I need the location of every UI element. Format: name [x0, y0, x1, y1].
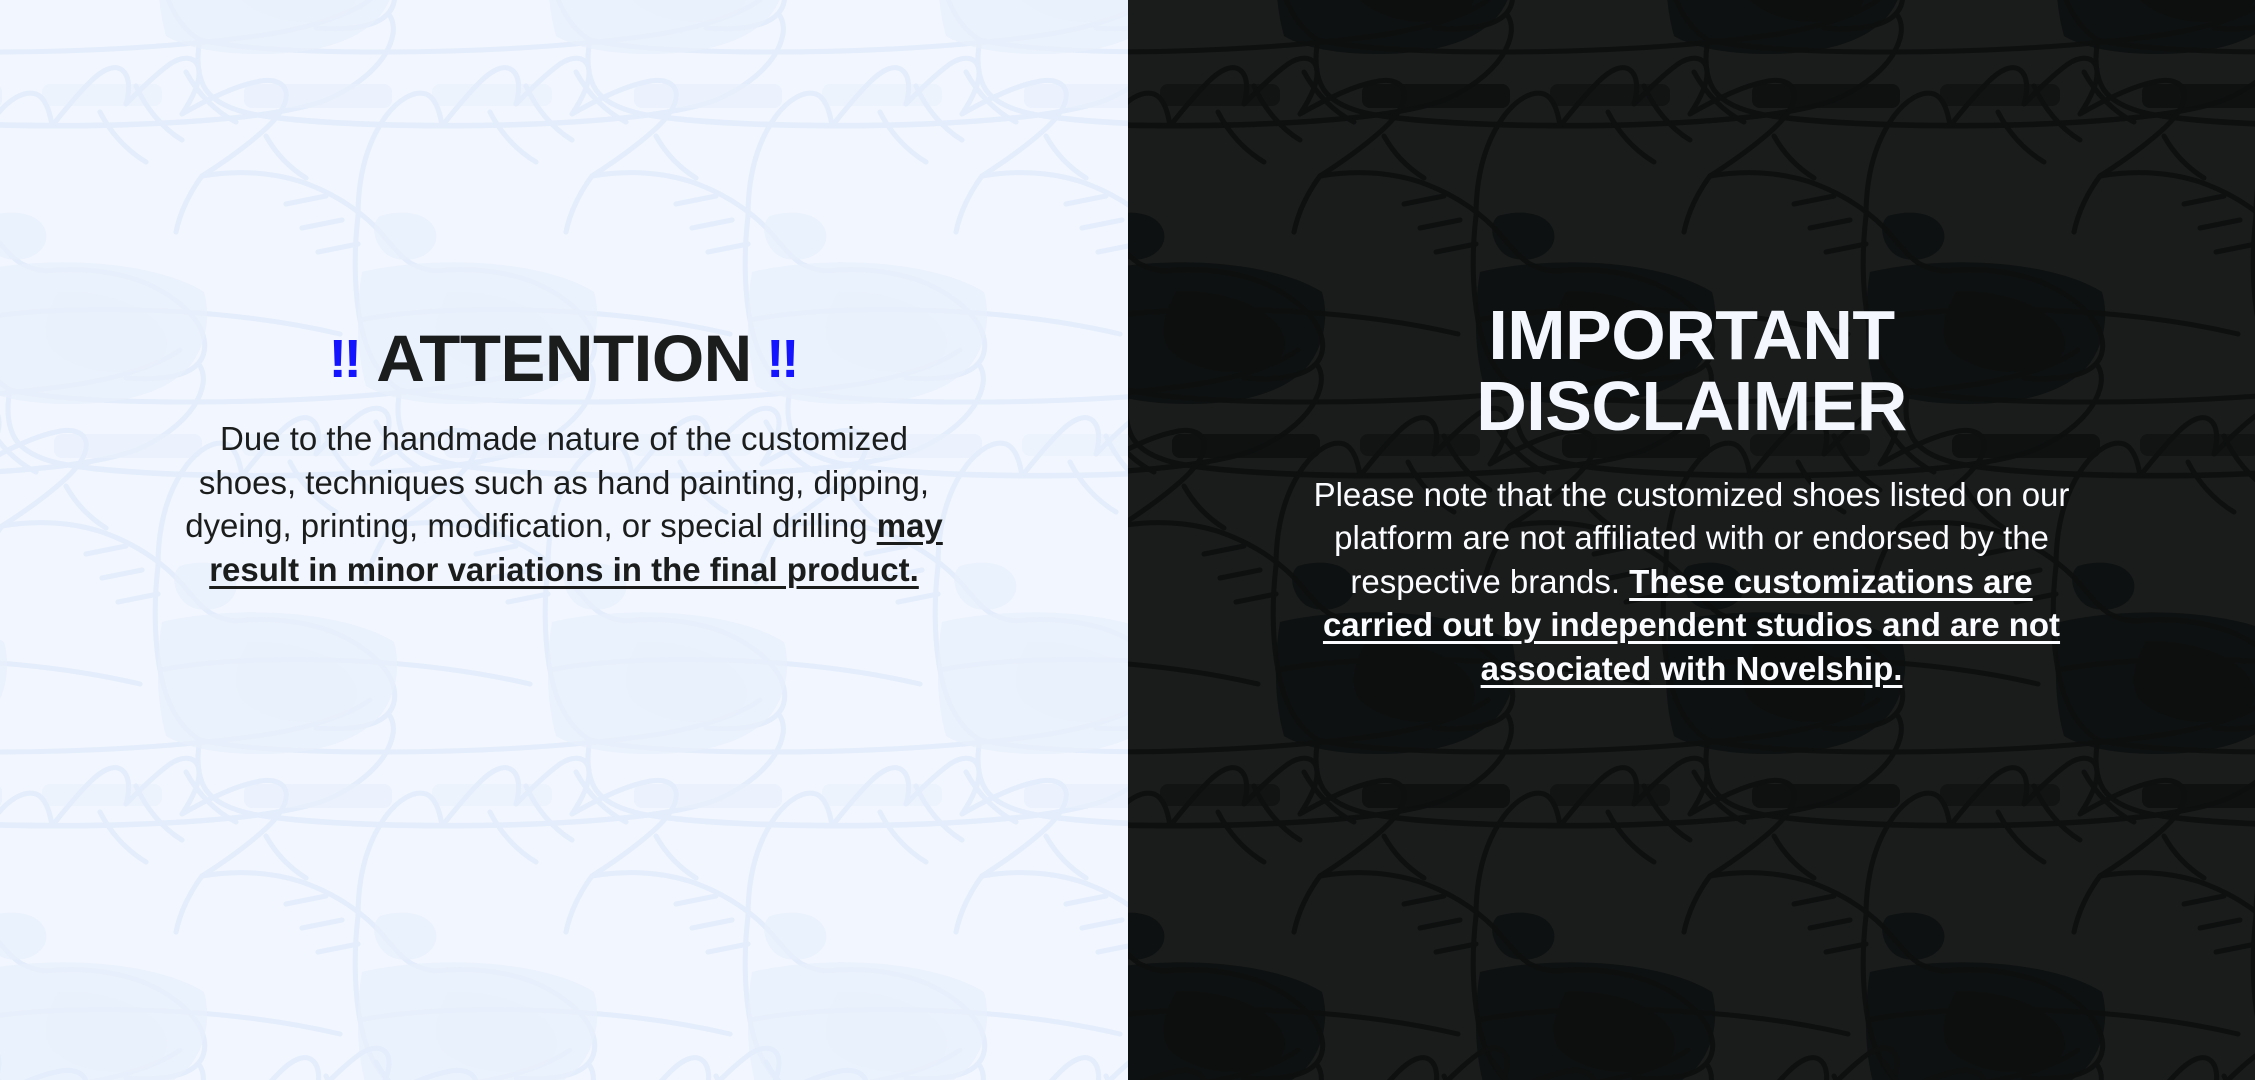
attention-panel: ‼ATTENTION‼ Due to the handmade nature o… — [0, 0, 1128, 1080]
attention-body-normal: Due to the handmade nature of the custom… — [185, 420, 929, 544]
attention-heading: ‼ATTENTION‼ — [156, 325, 972, 391]
disclaimer-heading: IMPORTANT DISCLAIMER — [1297, 300, 2087, 443]
double-exclamation-icon-left: ‼ — [329, 329, 362, 389]
disclaimer-heading-line-1: IMPORTANT — [1488, 296, 1894, 374]
attention-heading-text: ATTENTION — [376, 321, 752, 395]
disclaimer-banner: ‼ATTENTION‼ Due to the handmade nature o… — [0, 0, 2255, 1080]
double-exclamation-icon-right: ‼ — [766, 329, 799, 389]
disclaimer-panel: IMPORTANT DISCLAIMER Please note that th… — [1128, 0, 2255, 1080]
attention-content: ‼ATTENTION‼ Due to the handmade nature o… — [164, 325, 964, 591]
disclaimer-heading-line-2: DISCLAIMER — [1476, 367, 1907, 445]
disclaimer-body: Please note that the customized shoes li… — [1297, 473, 2087, 691]
disclaimer-content: IMPORTANT DISCLAIMER Please note that th… — [1297, 300, 2087, 691]
attention-body: Due to the handmade nature of the custom… — [164, 417, 964, 591]
